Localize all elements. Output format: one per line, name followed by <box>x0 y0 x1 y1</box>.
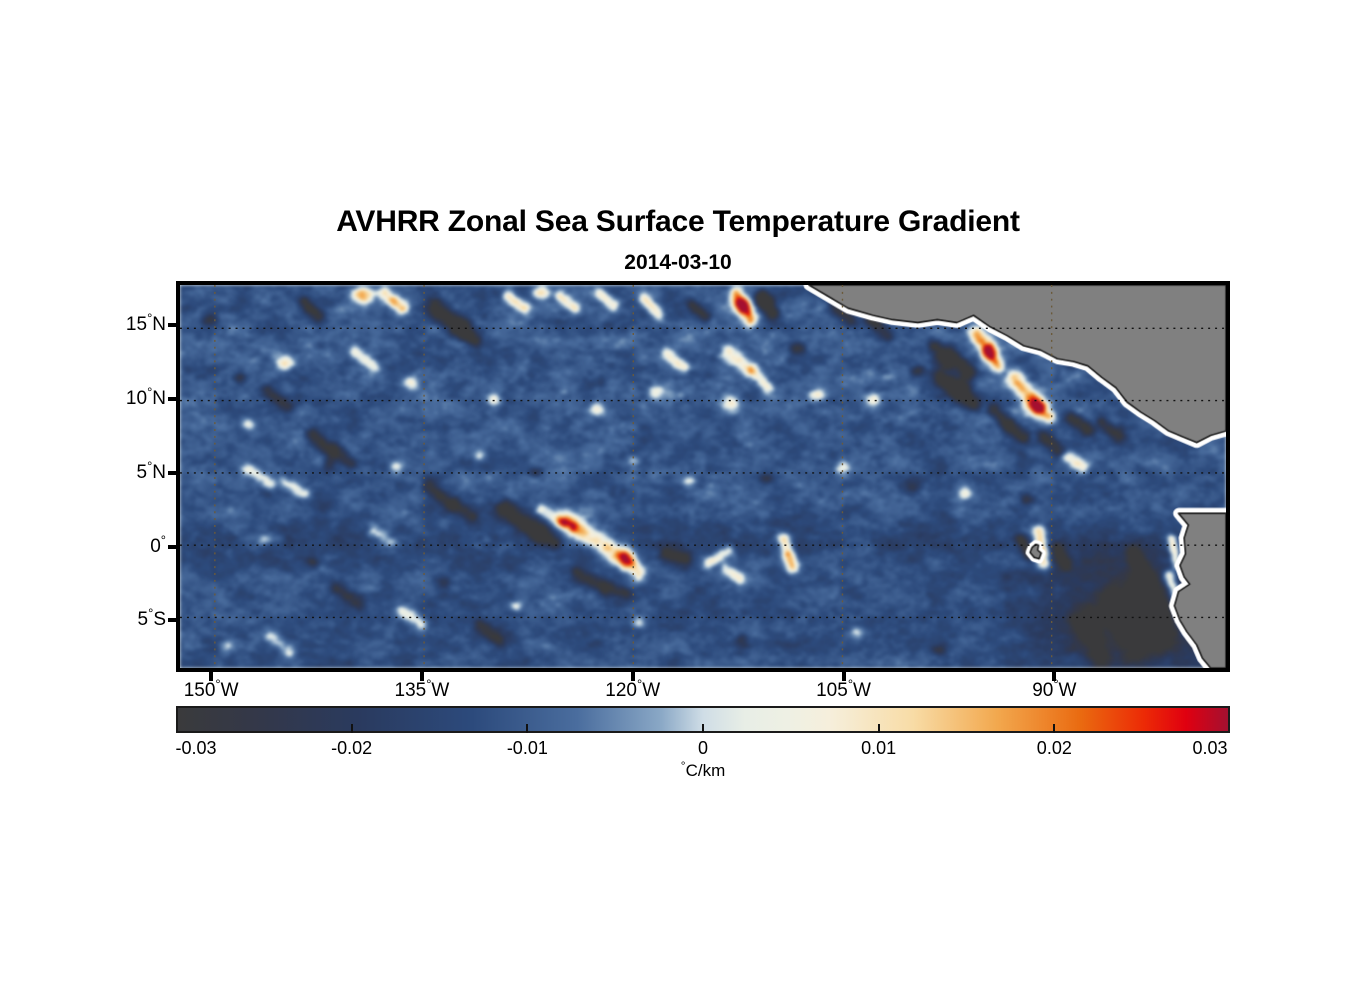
colorbar-tick-label: -0.03 <box>175 738 216 759</box>
x-tick-mark <box>209 672 213 681</box>
colorbar <box>176 706 1230 733</box>
colorbar-unit-label: °C/km <box>176 761 1230 781</box>
colorbar-tick-mark <box>526 724 528 733</box>
x-tick-mark <box>631 672 635 681</box>
colorbar-tick-mark <box>702 724 704 733</box>
x-tick-label: 120°W <box>605 680 660 702</box>
sst-gradient-heatmap <box>180 285 1226 668</box>
x-tick-label: 135°W <box>395 680 450 702</box>
x-tick-label: 150°W <box>184 680 239 702</box>
x-axis-tick-labels: 150°W135°W120°W105°W90°W <box>176 680 1230 708</box>
colorbar-tick-label: -0.02 <box>331 738 372 759</box>
y-tick-label: 5°S <box>138 609 166 631</box>
colorbar-tick-label: 0.03 <box>1192 738 1227 759</box>
colorbar-tick-label: 0.01 <box>861 738 896 759</box>
colorbar-tick-mark <box>351 724 353 733</box>
colorbar-tick-mark <box>878 724 880 733</box>
x-tick-mark <box>1052 672 1056 681</box>
y-tick-label: 10°N <box>126 388 166 410</box>
y-tick-mark <box>168 323 177 327</box>
y-tick-label: 0° <box>150 536 166 558</box>
y-tick-mark <box>168 471 177 475</box>
colorbar-tick-mark <box>1053 724 1055 733</box>
y-tick-mark <box>168 397 177 401</box>
colorbar-tick-label: 0 <box>698 738 708 759</box>
figure-root: AVHRR Zonal Sea Surface Temperature Grad… <box>0 0 1356 1000</box>
colorbar-tick-label: -0.01 <box>507 738 548 759</box>
x-tick-mark <box>842 672 846 681</box>
y-axis-tick-labels: 15°N10°N5°N0°5°S <box>0 281 166 672</box>
x-tick-mark <box>420 672 424 681</box>
y-tick-label: 5°N <box>136 462 166 484</box>
chart-title: AVHRR Zonal Sea Surface Temperature Grad… <box>0 205 1356 239</box>
x-tick-label: 90°W <box>1032 680 1076 702</box>
y-tick-label: 15°N <box>126 314 166 336</box>
map-axes <box>176 281 1230 672</box>
chart-subtitle: 2014-03-10 <box>0 251 1356 275</box>
x-tick-label: 105°W <box>816 680 871 702</box>
y-tick-mark <box>168 545 177 549</box>
colorbar-tick-label: 0.02 <box>1037 738 1072 759</box>
y-tick-mark <box>168 618 177 622</box>
